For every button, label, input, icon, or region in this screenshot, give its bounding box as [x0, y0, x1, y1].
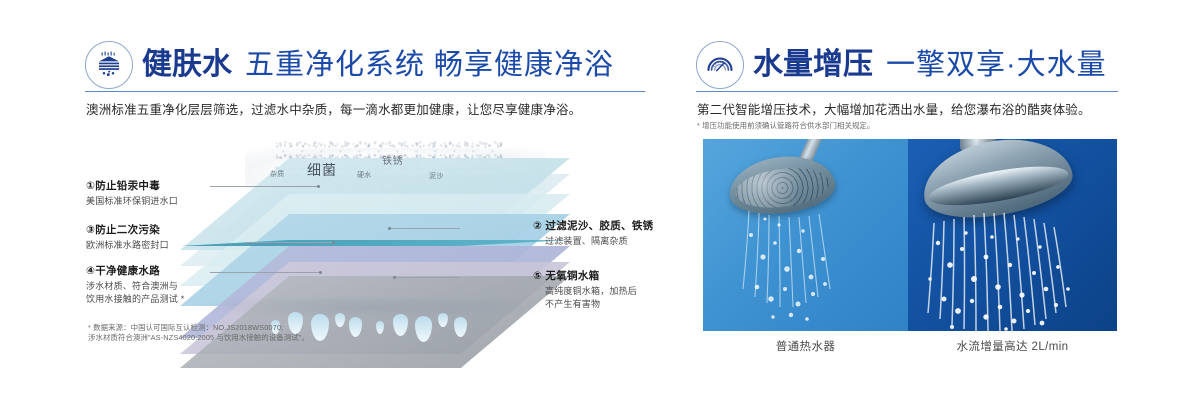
left-divider	[85, 91, 645, 92]
callout-1: ①防止铅汞中毒 美国标准环保铜进水口	[86, 180, 178, 208]
droplet	[376, 321, 384, 334]
droplet	[415, 316, 432, 342]
shower-head-face	[733, 163, 831, 212]
leader-line-3	[245, 242, 333, 243]
droplet	[438, 313, 448, 327]
droplet	[393, 314, 408, 336]
callout-4-sub-line1: 涉水材质、符合澳洲与	[86, 280, 184, 293]
caption-pressurized: 水流增量高达 2L/min	[908, 338, 1117, 354]
callout-3-title: ③防止二次污染	[86, 224, 169, 237]
shower-head-pressurized	[917, 139, 1078, 227]
impurity-tag-xijun: 细菌	[307, 160, 337, 180]
right-description: 第二代智能增压技术，大幅增加花洒出水量，给您瀑布浴的酷爽体验。	[697, 99, 1091, 118]
photo-captions: 普通热水器 水流增量高达 2L/min	[703, 338, 1117, 354]
leader-line-2	[390, 228, 460, 229]
callout-2-sub: 过滤装置、隔离杂质	[545, 235, 653, 248]
callout-4: ④干净健康水路 涉水材质、符合澳洲与 饮用水接触的产品测试 *	[86, 265, 184, 306]
right-title-sub: 一擎双享·大水量	[886, 51, 1107, 80]
left-footnote-line2: 涉水材质符合澳洲"AS-NZS4020:2005 与饮用水接触的设备测试"。	[88, 332, 309, 343]
leader-line-5	[395, 277, 460, 278]
caption-standard: 普通热水器	[703, 338, 908, 354]
droplet	[311, 314, 329, 341]
droplet	[454, 317, 467, 337]
callout-4-sub-line2: 饮用水接触的产品测试 *	[86, 293, 184, 306]
droplet	[288, 312, 303, 334]
right-heading-row: 水量增压 一擎双享·大水量	[696, 41, 1107, 89]
droplet	[349, 317, 362, 337]
callout-1-sub: 美国标准环保铜进水口	[86, 195, 178, 208]
right-divider	[696, 91, 1118, 92]
left-description: 澳洲标准五重净化层层筛选，过滤水中杂质，每一滴水都更加健康，让您尽享健康净浴。	[86, 99, 581, 118]
leader-line-4	[210, 272, 320, 273]
impurity-tag-yingshui: 硬水	[357, 170, 372, 180]
photo-standard-heater	[703, 139, 908, 331]
impurity-tag-tiexiu: 铁锈	[382, 152, 403, 167]
leader-line-1	[210, 186, 318, 187]
impurity-tag-nisha: 泥沙	[429, 171, 444, 181]
callout-3: ③防止二次污染 欧洲标准水路密封口	[86, 224, 169, 252]
right-footnote: * 增压功能使用前须确认管路符合供水部门相关规定。	[697, 120, 874, 131]
panel-water-purification: 健肤水 五重净化系统 畅享健康净浴 澳洲标准五重净化层层筛选，过滤水中杂质，每一…	[0, 0, 672, 400]
right-title-main: 水量增压	[753, 50, 873, 80]
callout-5-sub-line2: 不产生有害物	[545, 298, 637, 311]
left-title-sub: 五重净化系统 畅享健康净浴	[245, 51, 614, 80]
callout-5: ⑤ 无氧铜水箱 高纯度铜水箱，加热后 不产生有害物	[533, 270, 637, 311]
pressure-gauge-icon	[696, 41, 744, 89]
callout-1-title: ①防止铅汞中毒	[86, 180, 178, 193]
impurity-tag-zaizhi: 杂质	[270, 169, 285, 179]
photo-pressurized-heater	[908, 139, 1117, 331]
layer-stack	[180, 158, 570, 323]
left-title-main: 健肤水	[142, 50, 232, 80]
callout-2-title: ② 过滤泥沙、胶质、铁锈	[533, 220, 653, 233]
shower-head-standard	[726, 151, 838, 220]
left-heading-row: 健肤水 五重净化系统 畅享健康净浴	[85, 41, 614, 89]
callout-3-sub: 欧洲标准水路密封口	[86, 239, 169, 252]
comparison-photos	[703, 139, 1117, 331]
callout-5-sub-line1: 高纯度铜水箱，加热后	[545, 285, 637, 298]
droplet	[335, 313, 345, 327]
water-purifier-icon	[85, 41, 133, 89]
callout-5-title: ⑤ 无氧铜水箱	[533, 270, 637, 283]
callout-2: ② 过滤泥沙、胶质、铁锈 过滤装置、隔离杂质	[533, 220, 653, 248]
callout-4-title: ④干净健康水路	[86, 265, 184, 278]
